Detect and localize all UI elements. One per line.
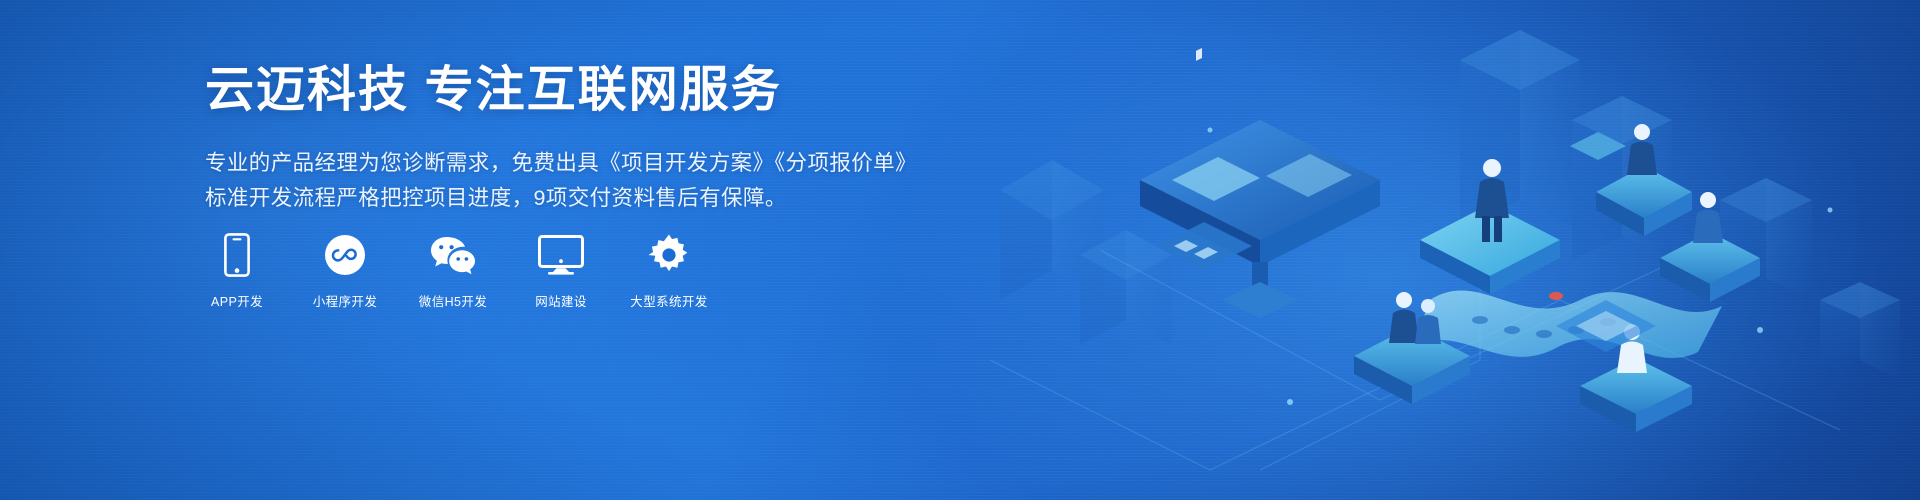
service-label-website: 网站建设 [535,291,587,310]
service-label-wechat-h5: 微信H5开发 [419,291,487,310]
service-label-app: APP开发 [211,291,263,310]
page-title: 云迈科技 专注互联网服务 [205,62,905,120]
service-item-large-system[interactable]: 大型系统开发 [632,232,706,310]
gear-icon [647,232,691,278]
monitor-icon [538,232,584,278]
service-item-app[interactable]: APP开发 [200,232,274,310]
service-item-mini-program[interactable]: 小程序开发 [308,232,382,310]
service-label-mini-program: 小程序开发 [313,291,378,310]
service-item-wechat-h5[interactable]: 微信H5开发 [416,232,490,310]
subcopy-line-2: 标准开发流程严格把控项目进度，9项交付资料售后有保障。 [205,181,905,216]
mobile-phone-icon [224,232,250,278]
service-item-website[interactable]: 网站建设 [524,232,598,310]
service-list: APP开发 小程序开发 微信 [200,232,706,310]
hero-copy: 云迈科技 专注互联网服务 专业的产品经理为您诊断需求，免费出具《项目开发方案》《… [205,62,905,215]
hero-banner: 云迈科技 专注互联网服务 专业的产品经理为您诊断需求，免费出具《项目开发方案》《… [0,0,1920,500]
hero-subcopy: 专业的产品经理为您诊断需求，免费出具《项目开发方案》《分项报价单》 标准开发流程… [205,146,905,216]
subcopy-line-1: 专业的产品经理为您诊断需求，免费出具《项目开发方案》《分项报价单》 [205,146,905,181]
service-label-large-system: 大型系统开发 [630,291,707,310]
wechat-icon [428,232,478,278]
isometric-data-platform-illustration [960,0,1920,500]
mini-program-icon [324,232,366,278]
